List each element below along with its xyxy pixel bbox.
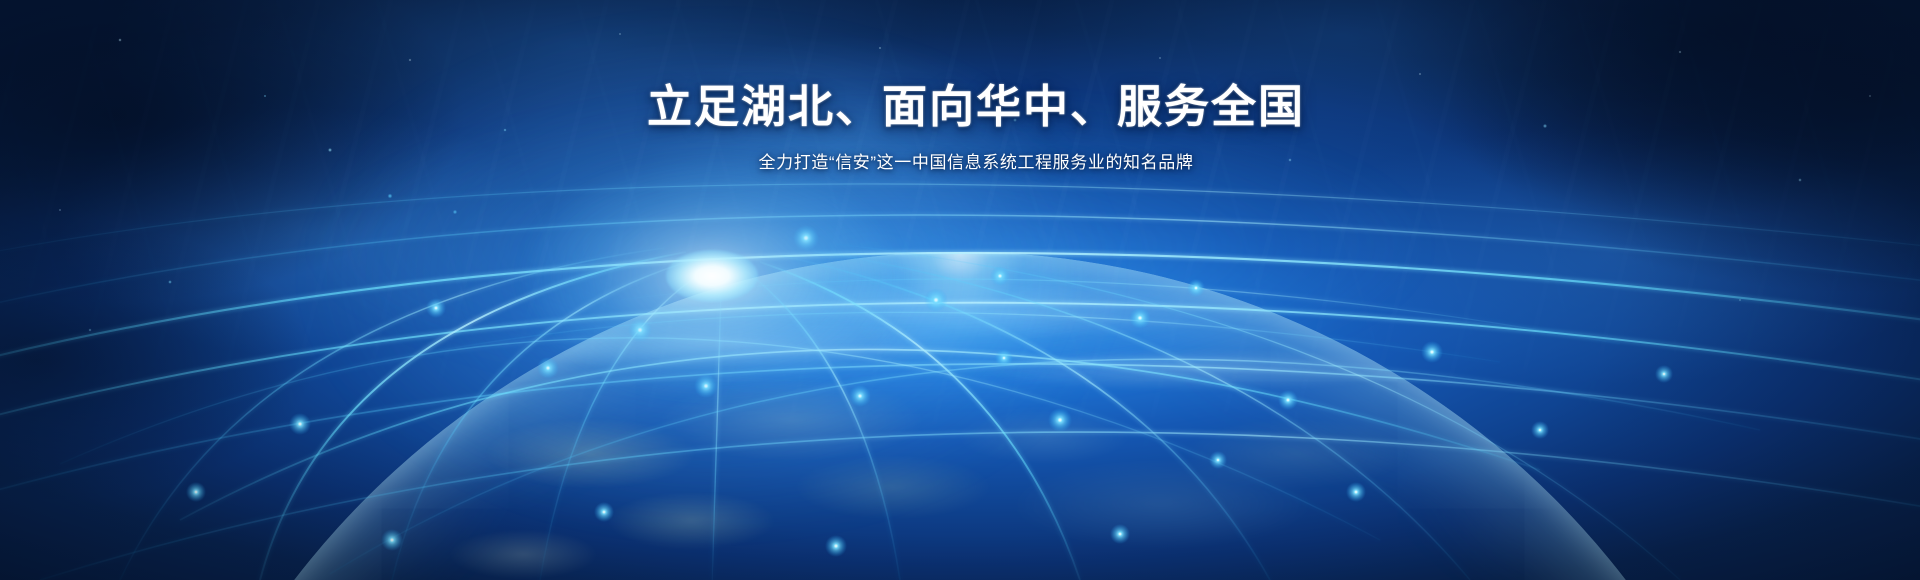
banner-headline: 立足湖北、面向华中、服务全国 [0, 82, 1920, 132]
banner-copy: 立足湖北、面向华中、服务全国 全力打造“信安”这一中国信息系统工程服务业的知名品… [0, 82, 1920, 173]
banner-subheadline: 全力打造“信安”这一中国信息系统工程服务业的知名品牌 [0, 148, 1920, 173]
hero-banner: 立足湖北、面向华中、服务全国 全力打造“信安”这一中国信息系统工程服务业的知名品… [0, 0, 1920, 580]
